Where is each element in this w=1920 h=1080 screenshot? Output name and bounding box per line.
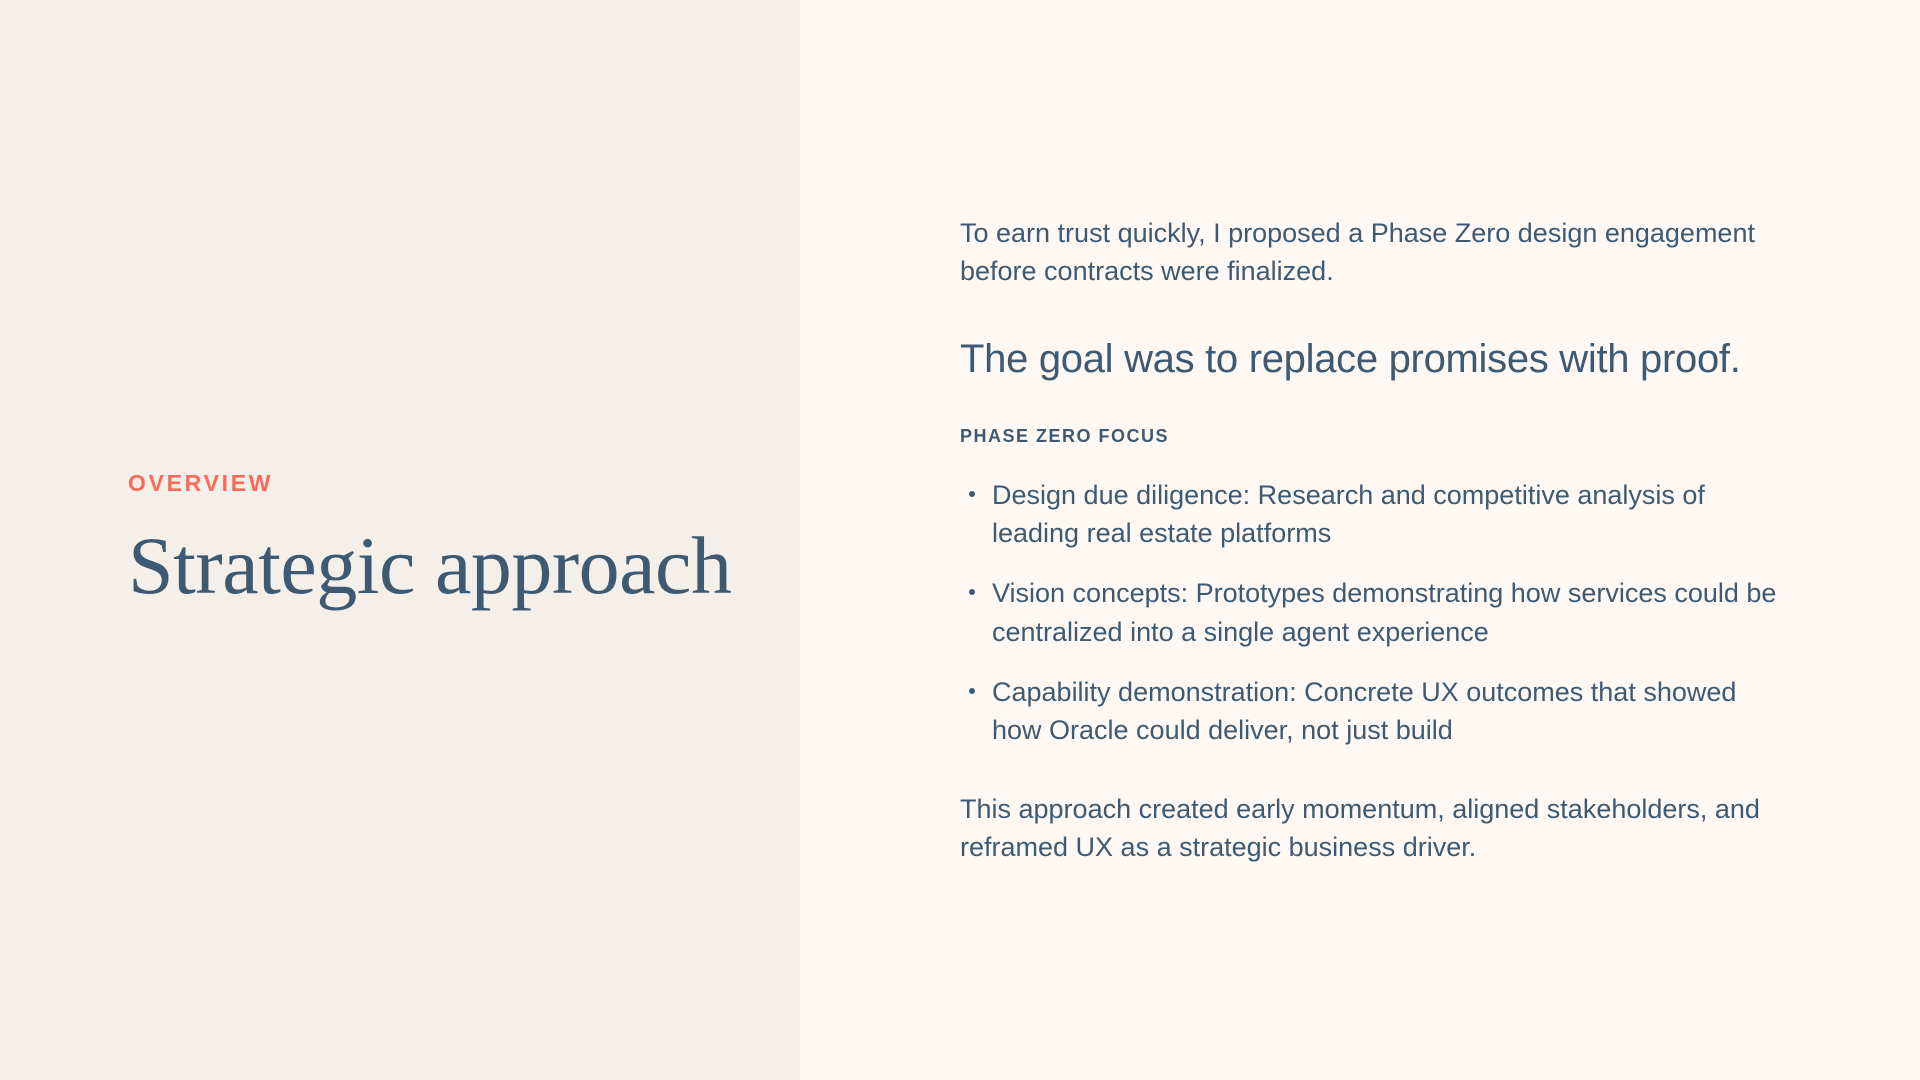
- list-item: Vision concepts: Prototypes demonstratin…: [960, 574, 1790, 651]
- page-title: Strategic approach: [128, 523, 740, 610]
- content-column: To earn trust quickly, I proposed a Phas…: [960, 214, 1790, 867]
- list-item-text: Design due diligence: Research and compe…: [992, 480, 1705, 548]
- bullet-icon: [969, 491, 975, 497]
- intro-paragraph: To earn trust quickly, I proposed a Phas…: [960, 214, 1790, 291]
- list-item-text: Capability demonstration: Concrete UX ou…: [992, 677, 1736, 745]
- left-panel: OVERVIEW Strategic approach: [0, 0, 800, 1080]
- bullet-icon: [969, 589, 975, 595]
- list-item: Capability demonstration: Concrete UX ou…: [960, 673, 1790, 750]
- list-item-text: Vision concepts: Prototypes demonstratin…: [992, 578, 1776, 646]
- focus-list-label: PHASE ZERO FOCUS: [960, 426, 1790, 448]
- section-eyebrow: OVERVIEW: [128, 470, 740, 498]
- slide: OVERVIEW Strategic approach To earn trus…: [0, 0, 1920, 1080]
- bullet-icon: [969, 688, 975, 694]
- focus-list: Design due diligence: Research and compe…: [960, 476, 1790, 750]
- closing-paragraph: This approach created early momentum, al…: [960, 790, 1790, 867]
- right-panel: To earn trust quickly, I proposed a Phas…: [800, 0, 1920, 1080]
- list-item: Design due diligence: Research and compe…: [960, 476, 1790, 553]
- headline-statement: The goal was to replace promises with pr…: [960, 334, 1790, 384]
